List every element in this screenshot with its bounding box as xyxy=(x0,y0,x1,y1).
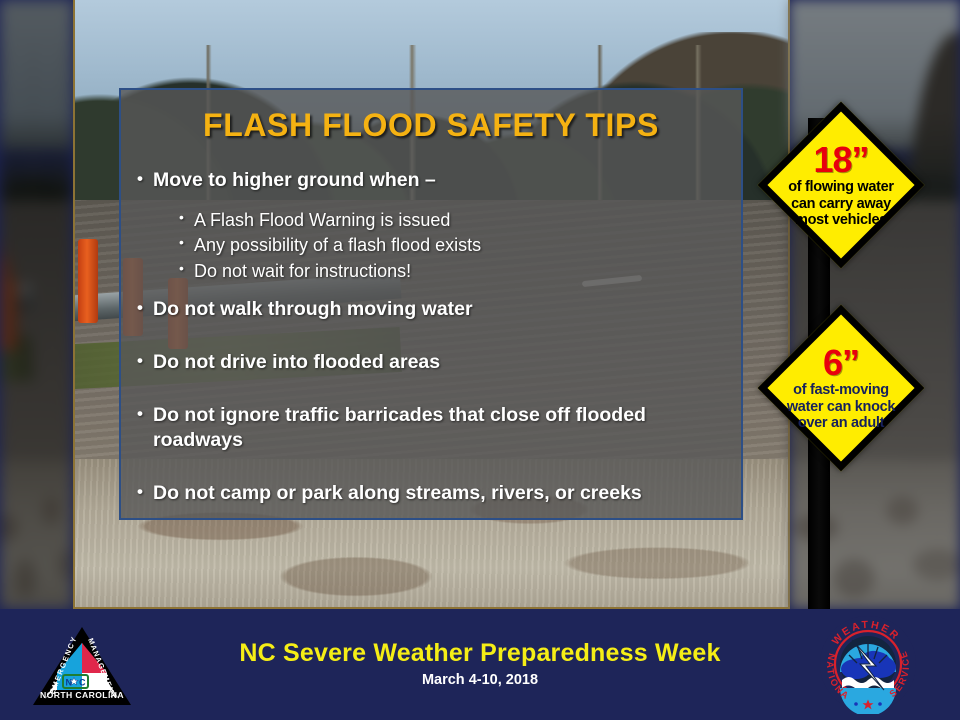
page-title: FLASH FLOOD SAFETY TIPS xyxy=(121,107,741,144)
spacer xyxy=(137,468,741,481)
list-item-label: Do not wait for instructions! xyxy=(194,259,411,283)
bullet-dot: • xyxy=(137,168,153,189)
bullet-dot: • xyxy=(179,259,194,278)
warning-sign-6-inches: 6” of fast-moving water can knock over a… xyxy=(757,304,925,472)
list-item: • Do not drive into flooded areas xyxy=(137,350,741,375)
list-item-label: Do not drive into flooded areas xyxy=(153,350,440,375)
banner-headline: NC Severe Weather Preparedness Week xyxy=(0,639,960,668)
national-weather-service-logo: WEATHER NATIONAL SERVICE xyxy=(818,614,918,714)
sign-body-text: of flowing water can carry away most veh… xyxy=(778,179,904,228)
list-item: • Do not walk through moving water xyxy=(137,297,741,322)
sign-number: 6” xyxy=(823,345,859,382)
list-item-label: Any possibility of a flash flood exists xyxy=(194,233,481,257)
list-item-label: Do not walk through moving water xyxy=(153,297,473,322)
spacer xyxy=(137,337,741,350)
safety-tips-panel: FLASH FLOOD SAFETY TIPS • Move to higher… xyxy=(119,88,743,520)
list-item: • A Flash Flood Warning is issued xyxy=(179,208,741,232)
spacer xyxy=(137,390,741,403)
bullet-dot: • xyxy=(137,350,153,371)
bullet-dot: • xyxy=(137,481,153,502)
list-item: • Any possibility of a flash flood exist… xyxy=(179,233,741,257)
list-item: • Do not ignore traffic barricades that … xyxy=(137,403,667,453)
sign-body-text: of fast-moving water can knock over an a… xyxy=(778,382,904,431)
bullet-dot: • xyxy=(137,297,153,318)
list-item-label: Do not ignore traffic barricades that cl… xyxy=(153,403,667,453)
bullet-dot: • xyxy=(179,233,194,252)
svg-text:C: C xyxy=(79,678,86,688)
list-item: • Move to higher ground when – xyxy=(137,168,741,193)
warning-sign-18-inches: 18” of flowing water can carry away most… xyxy=(757,101,925,269)
list-item-label: A Flash Flood Warning is issued xyxy=(194,208,450,232)
sign-number: 18” xyxy=(813,142,868,179)
spacer xyxy=(137,284,741,297)
list-item-label: Move to higher ground when – xyxy=(153,168,436,193)
list-item: • Do not camp or park along streams, riv… xyxy=(137,481,741,506)
svg-text:N: N xyxy=(66,678,73,688)
ncem-base-text: NORTH CAROLINA xyxy=(40,690,124,700)
banner-subline: March 4-10, 2018 xyxy=(0,672,960,688)
bottom-banner: NC Severe Weather Preparedness Week Marc… xyxy=(0,609,960,720)
list-item-label: Do not camp or park along streams, river… xyxy=(153,481,642,506)
bullet-dot: • xyxy=(137,403,153,424)
background-photo-left-strip xyxy=(0,0,73,609)
nc-emergency-management-logo: EMERGENCY MANAGEMENT N C NORTH CAROLINA xyxy=(27,621,137,709)
bullet-dot: • xyxy=(179,208,194,227)
list-item: • Do not wait for instructions! xyxy=(179,259,741,283)
safety-tips-list: • Move to higher ground when – • A Flash… xyxy=(137,168,741,506)
slide-canvas: 18” of flowing water can carry away most… xyxy=(0,0,960,720)
